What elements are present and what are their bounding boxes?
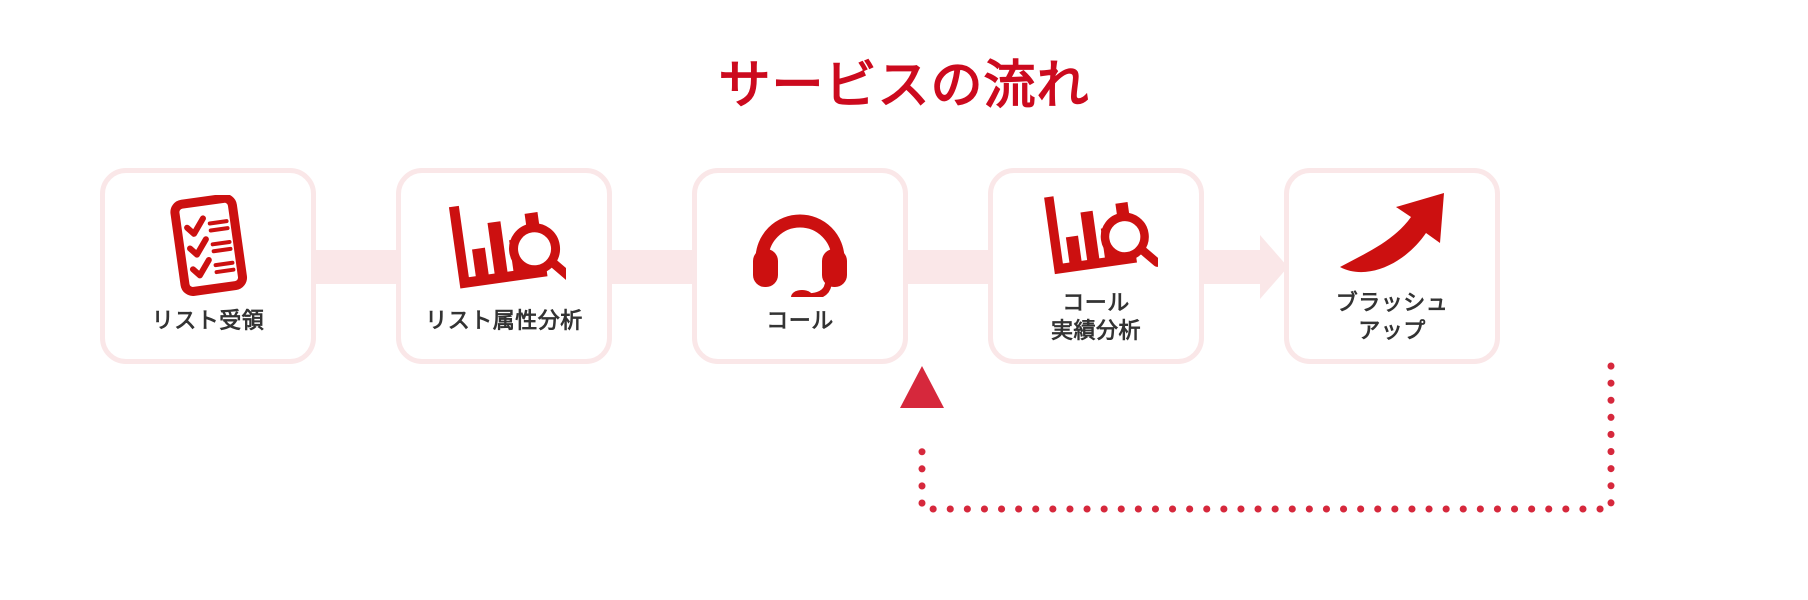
step-card-3-label: コール: [766, 307, 834, 335]
growth-arrow-icon: [1332, 189, 1452, 281]
clipboard-checklist-icon: [162, 195, 254, 299]
step-card-2[interactable]: リスト属性分析: [396, 168, 612, 364]
step-card-2-label: リスト属性分析: [425, 307, 583, 335]
bar-chart-magnifier-icon: [1034, 189, 1158, 281]
step-card-3[interactable]: コール: [692, 168, 908, 364]
page-title: サービスの流れ: [0, 58, 1808, 115]
step-card-5-label: ブラッシュ アップ: [1336, 289, 1449, 344]
step-card-4-label: コール 実績分析: [1051, 289, 1141, 344]
feedback-dotted-path: [922, 366, 1611, 509]
step-card-5[interactable]: ブラッシュ アップ: [1284, 168, 1500, 364]
feedback-arrowhead-icon: [900, 366, 944, 408]
step-card-4[interactable]: コール 実績分析: [988, 168, 1204, 364]
bar-chart-magnifier-icon: [442, 195, 566, 299]
service-flow-diagram: サービスの流れ: [0, 0, 1808, 600]
headset-icon: [748, 195, 852, 299]
step-card-1-label: リスト受領: [152, 307, 265, 335]
step-card-1[interactable]: リスト受領: [100, 168, 316, 364]
